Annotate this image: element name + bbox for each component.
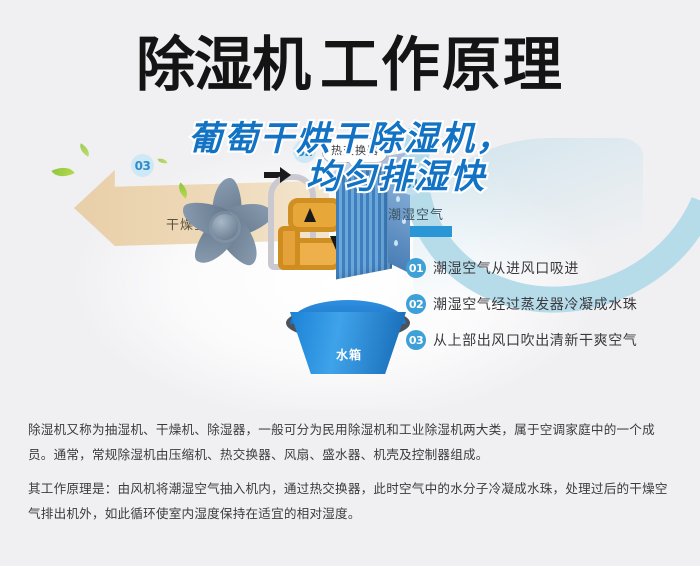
article-body: 除湿机又称为抽湿机、干燥机、除湿器，一般可分为民用除湿机和工业除湿机两大类，属于… <box>28 418 678 526</box>
step-item: 01 潮湿空气从进风口吸进 <box>406 250 700 286</box>
steps-list: 01 潮湿空气从进风口吸进 02 潮湿空气经过蒸发器冷凝成水珠 03 从上部出风… <box>406 250 700 358</box>
working-principle-diagram: 干燥空气 <box>0 128 700 410</box>
leaf-icon <box>158 157 168 164</box>
diagram-badge-01: 01 <box>400 172 423 195</box>
step-text-01: 潮湿空气从进风口吸进 <box>433 258 579 278</box>
leaf-icon <box>51 162 74 181</box>
moist-air-label: 潮湿空气 <box>388 204 444 223</box>
evaporator-fins <box>336 165 392 280</box>
step-item: 03 从上部出风口吹出清新干爽空气 <box>406 322 700 358</box>
leaf-icon <box>77 143 92 156</box>
diagram-badge-03: 03 <box>131 154 154 177</box>
diagram-badge-02: 02 <box>293 140 316 163</box>
coil-pipe <box>278 226 300 270</box>
tank-body: 水箱 <box>290 312 406 374</box>
water-droplet-icon <box>396 196 400 202</box>
water-tank-illustration: 水箱 <box>284 300 412 382</box>
page-title-part-2: 工作原理 <box>320 30 564 99</box>
diagram-stage: 干燥空气 <box>18 128 682 410</box>
step-badge-03: 03 <box>406 330 426 350</box>
step-text-03: 从上部出风口吹出清新干爽空气 <box>433 330 637 350</box>
step-badge-01: 01 <box>406 258 426 278</box>
water-tank-label: 水箱 <box>336 346 362 363</box>
water-droplet-icon <box>394 240 398 246</box>
paragraph-1: 除湿机又称为抽湿机、干燥机、除湿器，一般可分为民用除湿机和工业除湿机两大类，属于… <box>28 418 678 467</box>
step-item: 02 潮湿空气经过蒸发器冷凝成水珠 <box>406 286 700 322</box>
page-header: 除湿机工作原理 <box>0 0 700 128</box>
fan-hub <box>212 214 238 240</box>
step-text-02: 潮湿空气经过蒸发器冷凝成水珠 <box>433 294 637 314</box>
flow-arrow-right-icon <box>264 172 282 178</box>
page-title-part-1: 除湿机 <box>136 30 310 99</box>
page-title: 除湿机工作原理 <box>136 35 564 94</box>
paragraph-2: 其工作原理是：由风机将潮湿空气抽入机内，通过热交换器，此时空气中的水分子冷凝成水… <box>28 477 678 526</box>
flow-arrow-up-icon <box>304 208 316 222</box>
heat-exchanger-callout: 热交换器 <box>322 138 388 163</box>
step-badge-02: 02 <box>406 294 426 314</box>
